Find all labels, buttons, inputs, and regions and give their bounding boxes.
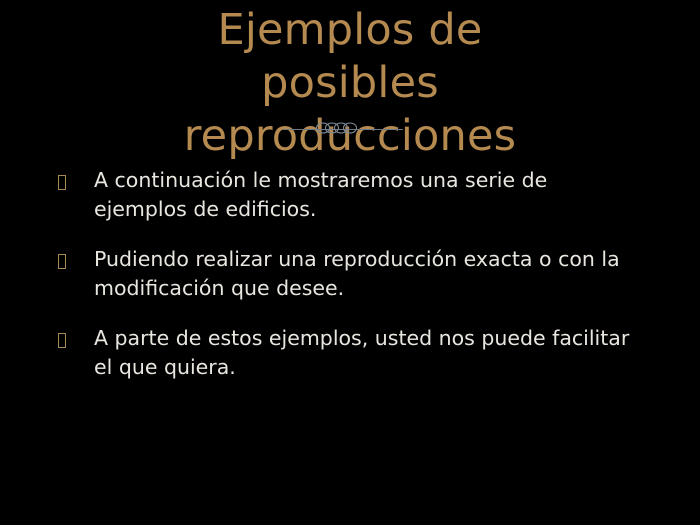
list-item-text: Pudiendo realizar una reproducción exact…	[94, 245, 639, 303]
presentation-slide: Ejemplos de posibles reproducciones A co…	[0, 0, 700, 525]
title-line-1: Ejemplos de	[0, 4, 700, 57]
slide-title: Ejemplos de posibles reproducciones	[0, 4, 700, 163]
bullet-marker-icon	[52, 166, 94, 196]
bullet-marker-icon	[52, 324, 94, 354]
title-line-3: reproducciones	[0, 110, 700, 163]
list-item-text: A continuación le mostraremos una serie …	[94, 166, 639, 224]
list-item: Pudiendo realizar una reproducción exact…	[52, 245, 662, 303]
bullet-marker-icon	[52, 245, 94, 275]
title-line-2: posibles	[0, 57, 700, 110]
list-item: A continuación le mostraremos una serie …	[52, 166, 662, 224]
list-item: A parte de estos ejemplos, usted nos pue…	[52, 324, 662, 382]
bullet-list: A continuación le mostraremos una serie …	[52, 166, 662, 382]
list-item-text: A parte de estos ejemplos, usted nos pue…	[94, 324, 639, 382]
